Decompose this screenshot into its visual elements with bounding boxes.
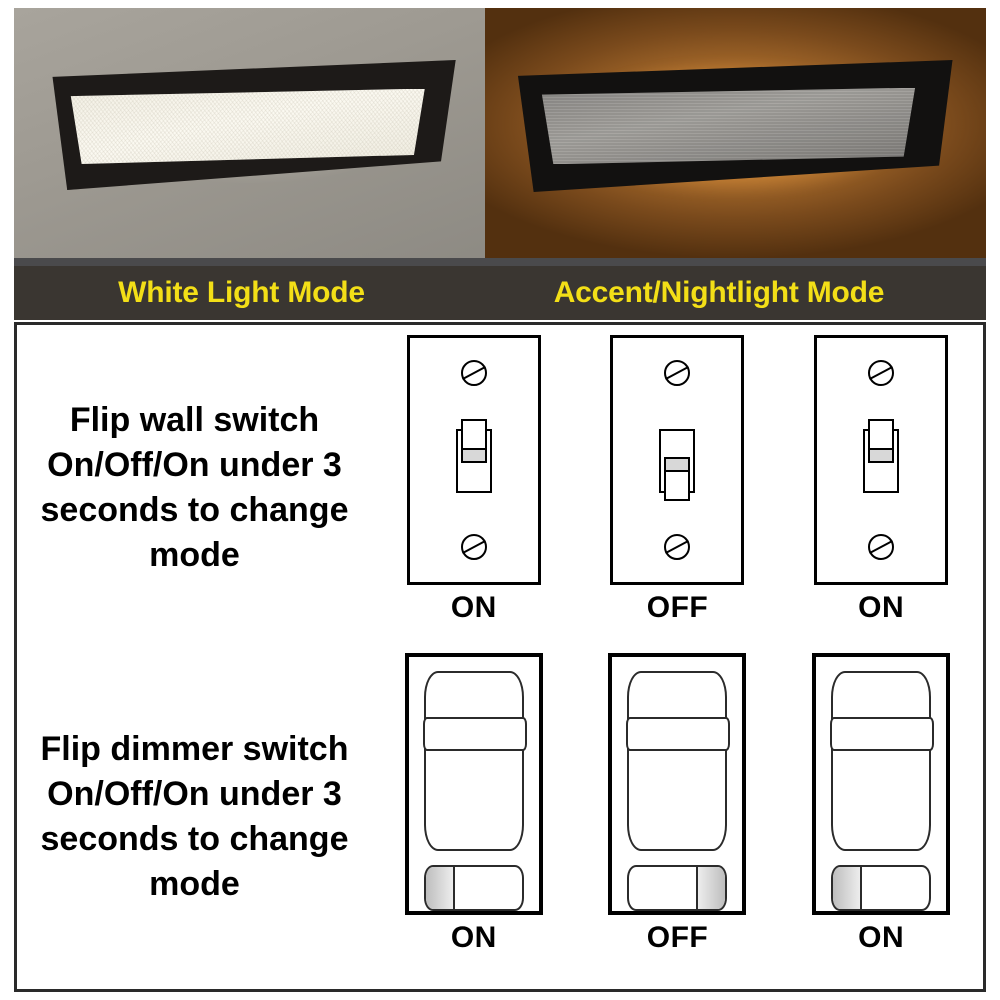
instruction-row-dimmer-switch: Flip dimmer switch On/Off/On under 3 sec…: [17, 647, 983, 987]
accent-nightlight-mode-photo: [485, 8, 986, 266]
screw-icon: [868, 534, 894, 560]
banner-label-accent-nightlight: Accent/Nightlight Mode: [469, 276, 969, 310]
screw-icon: [868, 360, 894, 386]
toggle-switch-plate-on[interactable]: [814, 335, 948, 585]
wall-switch-step-2-label: OFF: [647, 591, 709, 625]
screw-icon: [461, 534, 487, 560]
instruction-row-wall-switch: Flip wall switch On/Off/On under 3 secon…: [17, 329, 983, 647]
toggle-lever-up[interactable]: [461, 419, 487, 463]
lever-shadow: [666, 459, 688, 472]
wall-switch-step-2: OFF: [610, 335, 744, 625]
dimmer-slider[interactable]: [424, 865, 524, 911]
wall-switch-steps: ON OFF: [372, 329, 983, 647]
dimmer-slider-knob[interactable]: [425, 866, 455, 911]
toggle-lever-assembly[interactable]: [656, 423, 698, 497]
dimmer-switch-step-3-label: ON: [858, 921, 904, 955]
dimmer-switch-steps: ON OFF: [372, 647, 983, 987]
wall-switch-step-1: ON: [407, 335, 541, 625]
dimmer-slider-knob[interactable]: [696, 866, 726, 911]
photo-strip: [14, 8, 986, 266]
wall-switch-caption: Flip wall switch On/Off/On under 3 secon…: [17, 329, 372, 647]
dimmer-slider-knob[interactable]: [832, 866, 862, 911]
toggle-lever-down[interactable]: [664, 457, 690, 501]
dimmer-switch-plate-off[interactable]: [608, 653, 746, 915]
dimmer-switch-step-3: ON: [812, 653, 950, 955]
dimmer-switch-caption-text: Flip dimmer switch On/Off/On under 3 sec…: [25, 727, 364, 907]
toggle-lever-assembly[interactable]: [453, 423, 495, 497]
product-instruction-graphic: White Light Mode Accent/Nightlight Mode …: [0, 0, 1000, 1000]
screw-icon: [461, 360, 487, 386]
dimmer-slider[interactable]: [627, 865, 727, 911]
toggle-switch-plate-on[interactable]: [407, 335, 541, 585]
toggle-switch-plate-off[interactable]: [610, 335, 744, 585]
mode-title-banner: White Light Mode Accent/Nightlight Mode: [14, 266, 986, 320]
dimmer-switch-plate-on[interactable]: [405, 653, 543, 915]
screw-icon: [664, 534, 690, 560]
ceiling-panel-fixture-lit: [42, 60, 462, 190]
dimmer-switch-plate-on[interactable]: [812, 653, 950, 915]
dimmer-switch-caption: Flip dimmer switch On/Off/On under 3 sec…: [17, 647, 372, 987]
dimmer-paddle-band: [626, 717, 730, 751]
wall-switch-step-3: ON: [814, 335, 948, 625]
toggle-lever-up[interactable]: [868, 419, 894, 463]
toggle-lever-assembly[interactable]: [860, 423, 902, 497]
wall-switch-caption-text: Flip wall switch On/Off/On under 3 secon…: [25, 398, 364, 578]
lever-shadow: [463, 448, 485, 461]
dimmer-paddle-band: [830, 717, 934, 751]
dimmer-paddle[interactable]: [831, 671, 931, 851]
white-light-mode-photo: [14, 8, 485, 266]
dimmer-switch-step-1-label: ON: [451, 921, 497, 955]
lever-shadow: [870, 448, 892, 461]
fixture-diffuser-lens: [67, 89, 428, 164]
dimmer-switch-step-2: OFF: [608, 653, 746, 955]
fixture-diffuser-lens: [538, 88, 919, 165]
banner-label-white-light: White Light Mode: [14, 276, 469, 310]
dimmer-switch-step-2-label: OFF: [647, 921, 709, 955]
dimmer-slider[interactable]: [831, 865, 931, 911]
instruction-panel: Flip wall switch On/Off/On under 3 secon…: [14, 322, 986, 992]
dimmer-switch-step-1: ON: [405, 653, 543, 955]
screw-icon: [664, 360, 690, 386]
wall-switch-step-3-label: ON: [858, 591, 904, 625]
dimmer-paddle-band: [423, 717, 527, 751]
wall-switch-step-1-label: ON: [451, 591, 497, 625]
dimmer-paddle[interactable]: [627, 671, 727, 851]
ceiling-panel-fixture-accent: [509, 60, 957, 192]
dimmer-paddle[interactable]: [424, 671, 524, 851]
